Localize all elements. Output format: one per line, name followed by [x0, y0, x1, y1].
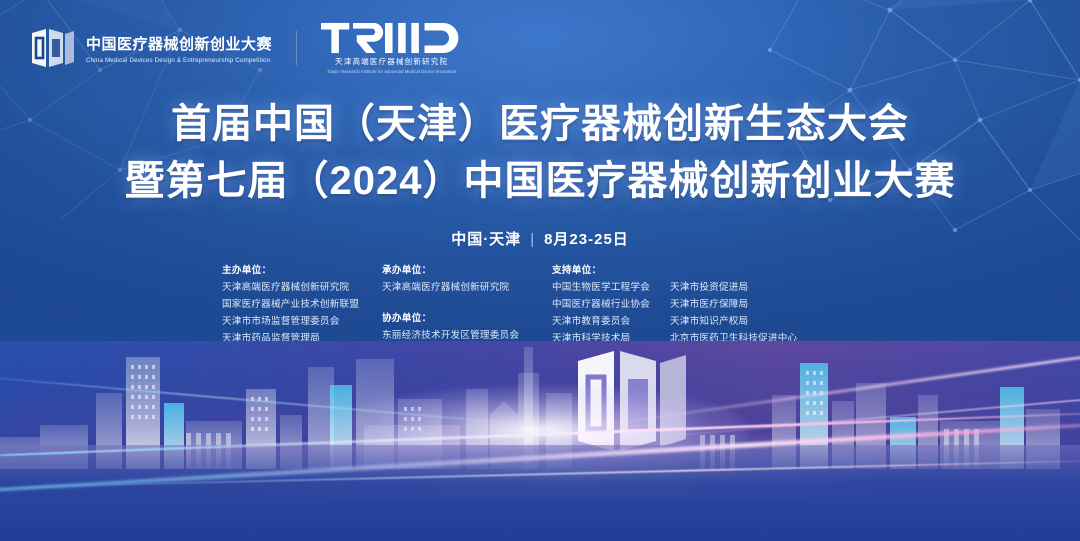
organizer-item: 天津市市场监督管理委员会 — [222, 313, 382, 330]
organizer-item: 天津市知识产权局 — [670, 313, 870, 330]
organizer-heading: 承办单位： — [382, 262, 552, 279]
organizer-item: 中国医疗器械行业协会 — [552, 296, 670, 313]
poster-titles: 首届中国（天津）医疗器械创新生态大会 暨第七届（2024）中国医疗器械创新创业大… — [0, 96, 1080, 210]
open-book-door-mark-icon — [30, 26, 76, 70]
organizer-group: 承办单位： 天津高端医疗器械创新研究院 — [382, 262, 552, 296]
event-meta: 中国·天津|8月23-25日 — [0, 228, 1080, 249]
organizer-item: 天津市投资促进局 — [670, 279, 870, 296]
competition-title-cn: 中国医疗器械创新创业大赛 — [86, 33, 272, 54]
competition-logo: 中国医疗器械创新创业大赛 China Medical Devices Desig… — [30, 26, 272, 70]
institute-logo: 天津高端医疗器械创新研究院 Tianjin Research Institute… — [321, 22, 462, 74]
institute-subtitle-en: Tianjin Research Institute for Advanced … — [327, 69, 456, 74]
organizer-item: 天津高端医疗器械创新研究院 — [382, 279, 552, 296]
competition-title-en: China Medical Devices Design & Entrepren… — [86, 56, 272, 63]
poster-header: 中国医疗器械创新创业大赛 China Medical Devices Desig… — [30, 22, 462, 74]
triid-wordmark-icon — [321, 22, 462, 54]
institute-subtitle-cn: 天津高端医疗器械创新研究院 — [335, 56, 448, 67]
competition-logo-text: 中国医疗器械创新创业大赛 China Medical Devices Desig… — [86, 33, 272, 64]
logo-divider — [296, 31, 297, 65]
event-location: 中国·天津 — [451, 231, 521, 248]
organizer-item: 天津高端医疗器械创新研究院 — [222, 279, 382, 296]
organizer-item: 国家医疗器械产业技术创新联盟 — [222, 296, 382, 313]
title-line-1: 首届中国（天津）医疗器械创新生态大会 — [0, 96, 1080, 153]
event-date: 8月23-25日 — [544, 231, 629, 248]
event-poster: 中国医疗器械创新创业大赛 China Medical Devices Desig… — [0, 0, 1080, 541]
organizer-item: 天津市医疗保障局 — [670, 296, 870, 313]
meta-separator: | — [530, 231, 535, 248]
organizer-heading: 协办单位： — [382, 310, 552, 327]
organizer-item: 天津市教育委员会 — [552, 313, 670, 330]
organizer-item: 中国生物医学工程学会 — [552, 279, 670, 296]
organizer-heading: 主办单位： — [222, 262, 382, 279]
organizer-heading: 支持单位： — [552, 262, 670, 279]
city-scene — [0, 341, 1080, 541]
title-line-2: 暨第七届（2024）中国医疗器械创新创业大赛 — [0, 153, 1080, 210]
